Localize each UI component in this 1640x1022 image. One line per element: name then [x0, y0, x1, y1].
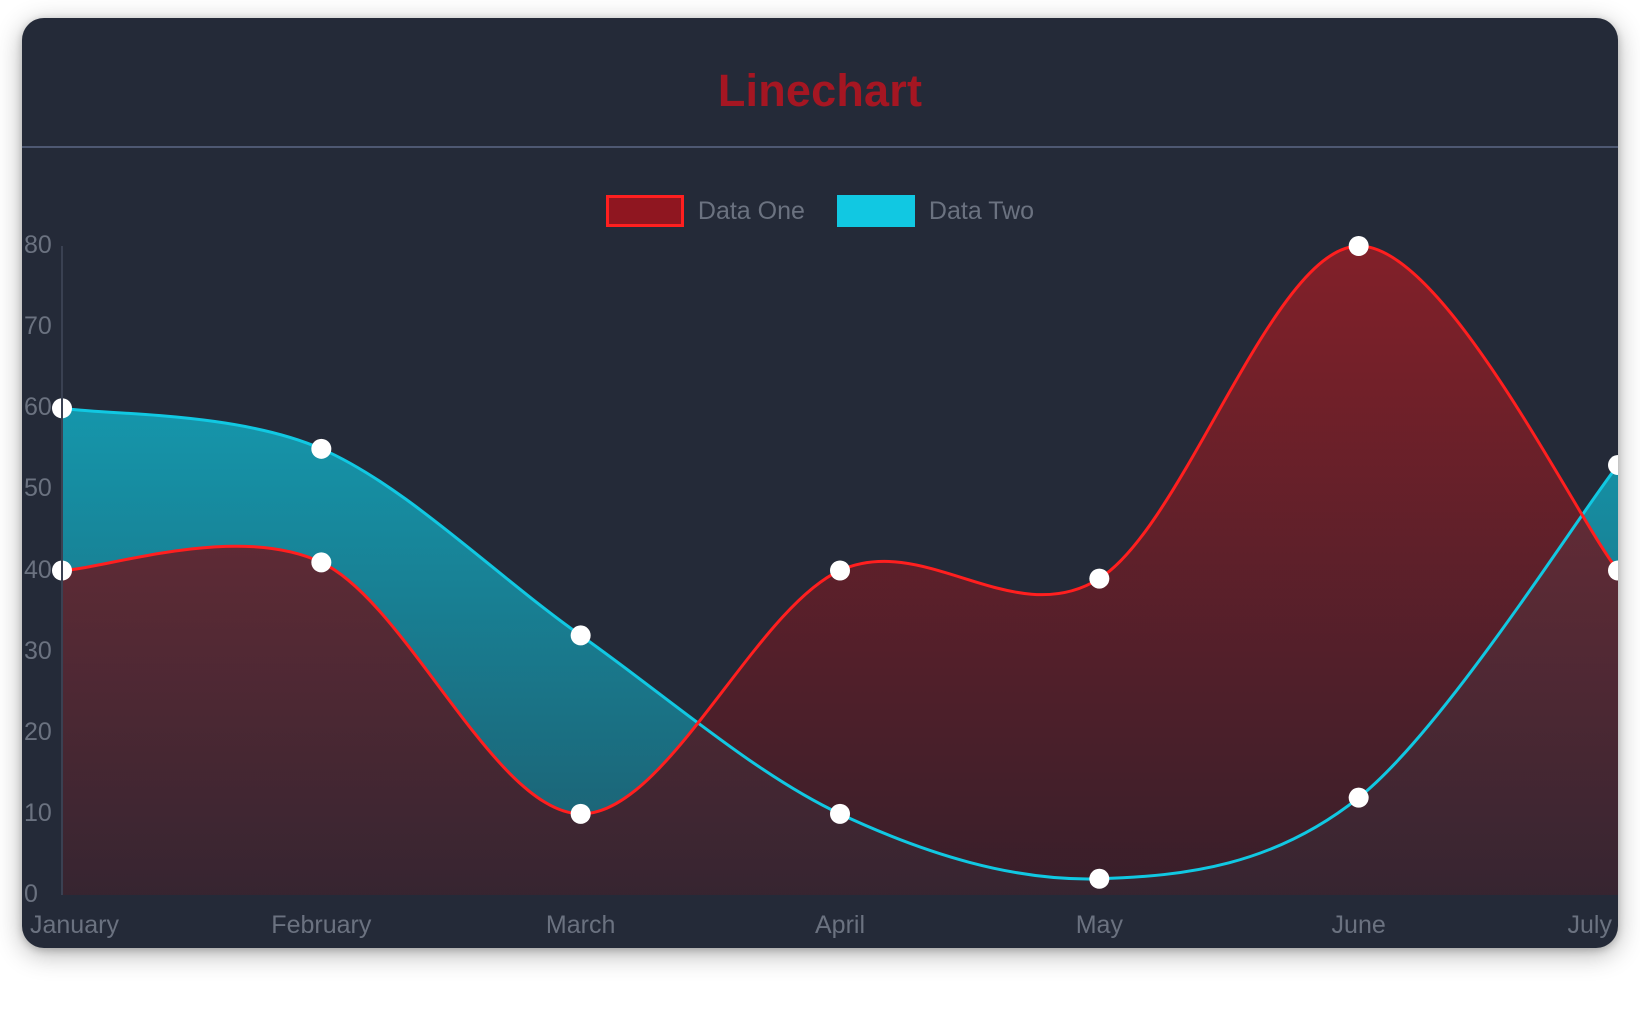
y-tick-label: 20	[24, 720, 52, 745]
data-point[interactable]	[311, 439, 331, 459]
y-tick-label: 80	[24, 233, 52, 258]
y-tick-label: 70	[24, 314, 52, 339]
x-tick-label: June	[1332, 913, 1386, 938]
x-tick-label: March	[546, 913, 615, 938]
y-tick-label: 0	[24, 882, 38, 907]
x-tick-label: February	[271, 913, 371, 938]
data-point[interactable]	[830, 561, 850, 581]
data-point[interactable]	[571, 625, 591, 645]
data-point[interactable]	[1349, 788, 1369, 808]
data-point[interactable]	[1089, 869, 1109, 889]
data-point[interactable]	[830, 804, 850, 824]
y-tick-label: 40	[24, 558, 52, 583]
y-tick-label: 60	[24, 395, 52, 420]
page-root: { "card": { "title": "Linechart", "backg…	[0, 0, 1640, 1022]
data-point[interactable]	[1089, 569, 1109, 589]
data-point[interactable]	[1608, 455, 1618, 475]
y-tick-label: 50	[24, 476, 52, 501]
x-tick-label: January	[30, 913, 119, 938]
x-tick-label: May	[1076, 913, 1123, 938]
chart-canvas	[22, 18, 1618, 948]
x-tick-label: April	[815, 913, 865, 938]
data-point[interactable]	[1349, 236, 1369, 256]
y-tick-label: 30	[24, 639, 52, 664]
y-tick-label: 10	[24, 801, 52, 826]
linechart-card: Linechart Data One Data Two 807060504030…	[22, 18, 1618, 948]
data-point[interactable]	[311, 552, 331, 572]
x-tick-label: July	[1568, 913, 1612, 938]
data-point[interactable]	[571, 804, 591, 824]
plot-area: 80706050403020100 JanuaryFebruaryMarchAp…	[22, 18, 1618, 948]
